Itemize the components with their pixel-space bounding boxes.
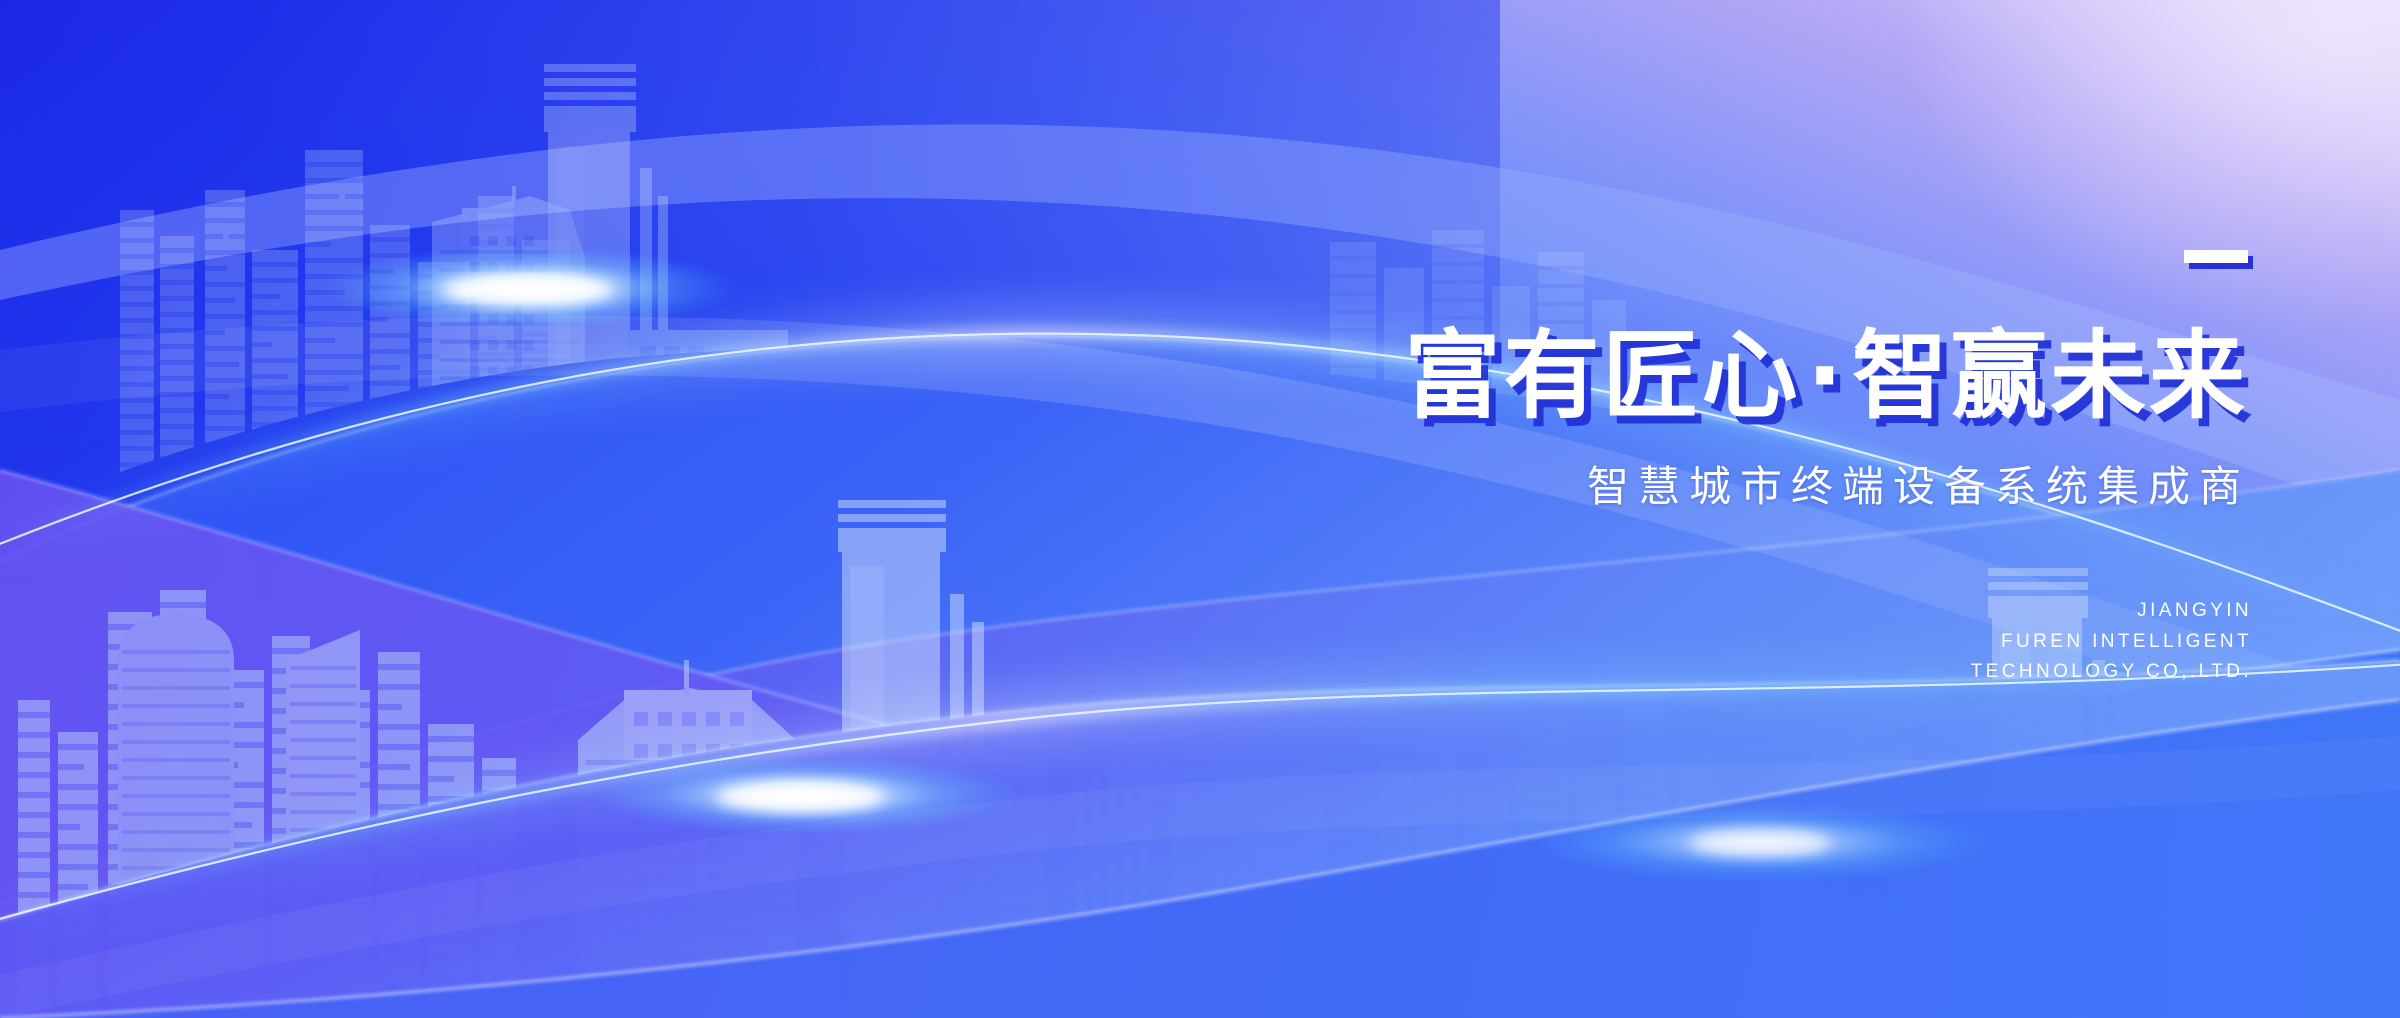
accent-dash-icon: [2184, 250, 2248, 263]
page-subtitle: 智慧城市终端设备系统集成商: [1132, 453, 2252, 514]
company-line-3: TECHNOLOGY CO,.LTD.: [1132, 657, 2252, 688]
hero-text-block: 富有匠心·智赢未来 智慧城市终端设备系统集成商 JIANGYIN FUREN I…: [1132, 250, 2252, 688]
company-line-1: JIANGYIN: [1132, 596, 2252, 627]
headline-part-2: 智赢未来: [1852, 320, 2248, 432]
company-name-block: JIANGYIN FUREN INTELLIGENT TECHNOLOGY CO…: [1132, 596, 2252, 688]
company-line-2: FUREN INTELLIGENT: [1132, 627, 2252, 658]
headline-separator: ·: [1801, 320, 1852, 432]
page-title: 富有匠心·智赢未来: [1132, 326, 2252, 427]
banner-root: 富有匠心·智赢未来 智慧城市终端设备系统集成商 JIANGYIN FUREN I…: [0, 0, 2400, 1018]
headline-part-1: 富有匠心: [1405, 320, 1801, 432]
